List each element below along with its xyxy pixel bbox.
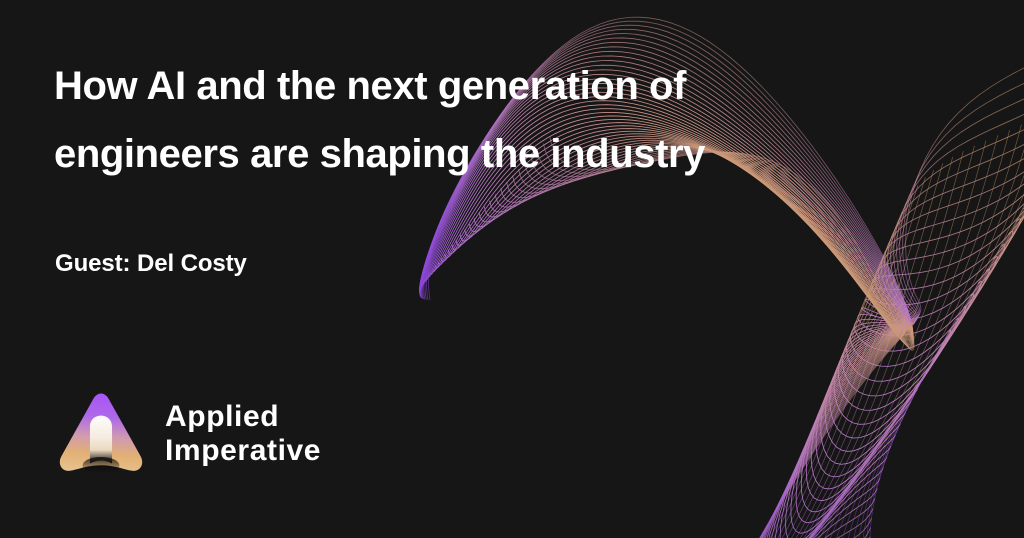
brand-wordmark: Applied Imperative <box>165 400 321 468</box>
page-title: How AI and the next generation of engine… <box>54 52 844 188</box>
brand-lockup: Applied Imperative <box>55 388 321 480</box>
guest-label: Guest: Del Costy <box>55 250 247 278</box>
episode-card: How AI and the next generation of engine… <box>0 0 1024 538</box>
card-content: How AI and the next generation of engine… <box>0 0 1024 538</box>
applied-imperative-arrow-logo <box>55 388 147 480</box>
